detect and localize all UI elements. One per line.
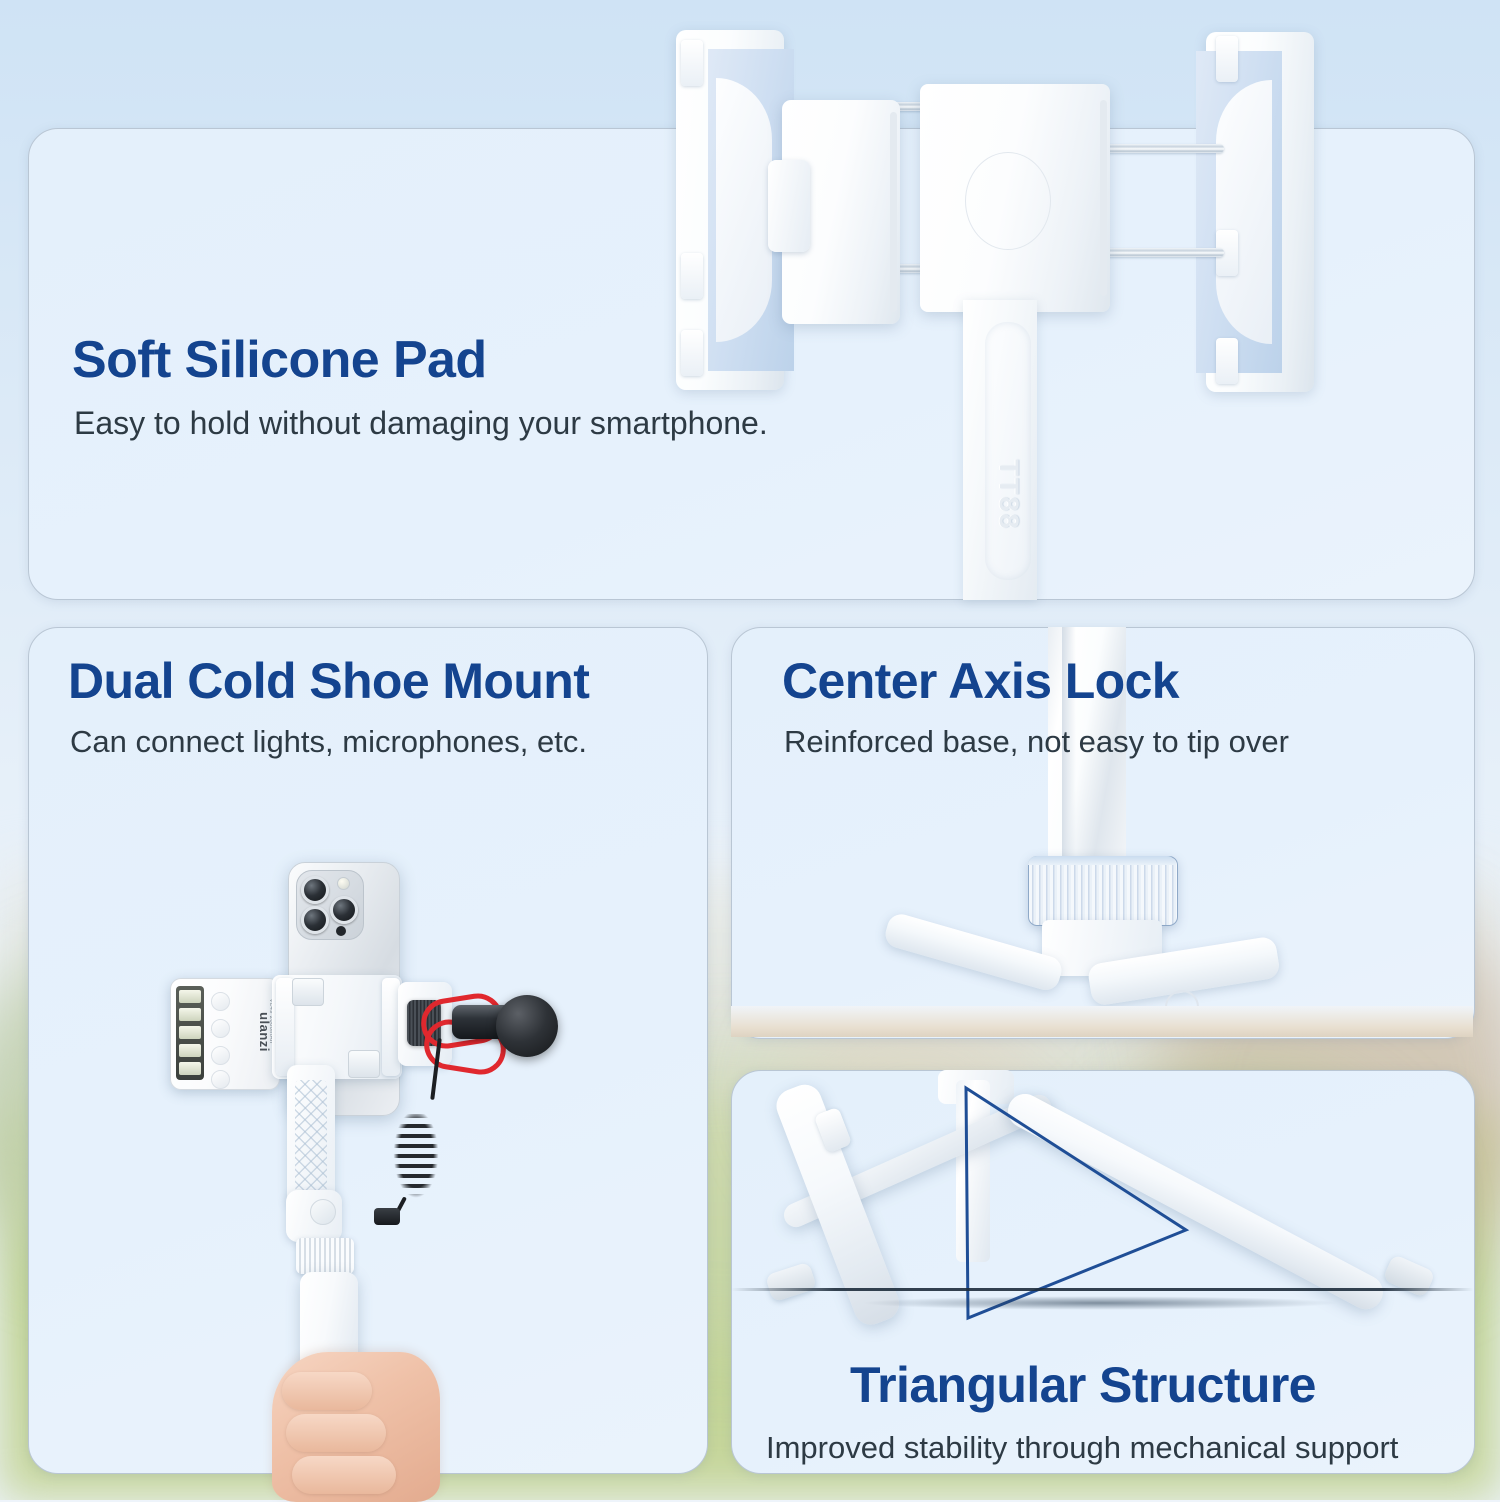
panel-title-triangular-structure: Triangular Structure	[850, 1356, 1316, 1414]
led-cell	[179, 1062, 201, 1075]
panel-subtitle-triangular-structure: Improved stability through mechanical su…	[766, 1430, 1398, 1466]
finger	[286, 1414, 386, 1452]
surface-strip	[731, 1006, 1473, 1037]
silicone-pad-core-left	[716, 78, 772, 342]
clamp-center-emboss	[965, 152, 1051, 250]
camera-lens-icon	[301, 906, 329, 934]
camera-flash-icon	[337, 877, 350, 890]
led-cell	[179, 990, 201, 1003]
finger	[282, 1372, 372, 1410]
tilt-arm-lattice-texture	[295, 1080, 327, 1192]
cold-shoe-mount-side	[348, 1050, 380, 1078]
led-cell	[179, 1044, 201, 1057]
led-cell	[179, 1026, 201, 1039]
extension-lock-collar[interactable]	[296, 1238, 354, 1274]
tripod-shadow	[770, 1295, 1430, 1311]
camera-lidar-icon	[336, 926, 346, 936]
clamp-rod	[1098, 144, 1224, 153]
center-axis-lock-knob-top	[1028, 856, 1176, 865]
led-cell	[179, 1008, 201, 1021]
tripod-center-column	[956, 1080, 990, 1262]
finger	[292, 1456, 396, 1494]
clamp-tab	[681, 330, 703, 376]
clamp-rail-dots	[1100, 100, 1107, 296]
panel-subtitle-soft-silicone-pad: Easy to hold without damaging your smart…	[74, 405, 768, 442]
led-light-strip	[176, 986, 204, 1080]
panel-subtitle-dual-cold-shoe-mount: Can connect lights, microphones, etc.	[70, 724, 587, 760]
clamp-tab	[681, 253, 703, 299]
ball-head-dial[interactable]	[310, 1199, 336, 1225]
panel-subtitle-center-axis-lock: Reinforced base, not easy to tip over	[784, 724, 1289, 760]
camera-lens-icon	[330, 896, 358, 924]
clamp-tab	[681, 40, 703, 86]
microphone-cable-plug	[374, 1208, 400, 1225]
brand-label-ulanzi: ulanzi	[228, 1004, 272, 1060]
clamp-hinge	[768, 160, 810, 252]
center-axis-lock-knob[interactable]	[1028, 856, 1178, 926]
clamp-shaft-inset	[985, 322, 1031, 580]
led-button[interactable]	[211, 1070, 230, 1089]
panel-title-soft-silicone-pad: Soft Silicone Pad	[72, 330, 487, 390]
silicone-pad-core-right	[1216, 80, 1272, 344]
cold-shoe-mount-top	[292, 978, 324, 1006]
panel-title-dual-cold-shoe-mount: Dual Cold Shoe Mount	[68, 652, 589, 710]
camera-lens-icon	[301, 876, 329, 904]
clamp-tab	[1216, 36, 1238, 82]
clamp-rail-dots	[890, 112, 897, 312]
panel-title-center-axis-lock: Center Axis Lock	[782, 652, 1179, 710]
clamp-rod	[1098, 248, 1224, 257]
ground-line	[731, 1288, 1473, 1291]
microphone-coiled-cable	[392, 1098, 440, 1210]
product-marking-tt88: TT88	[954, 464, 1064, 526]
clamp-tab	[1216, 338, 1238, 384]
microphone-windscreen	[496, 995, 558, 1057]
